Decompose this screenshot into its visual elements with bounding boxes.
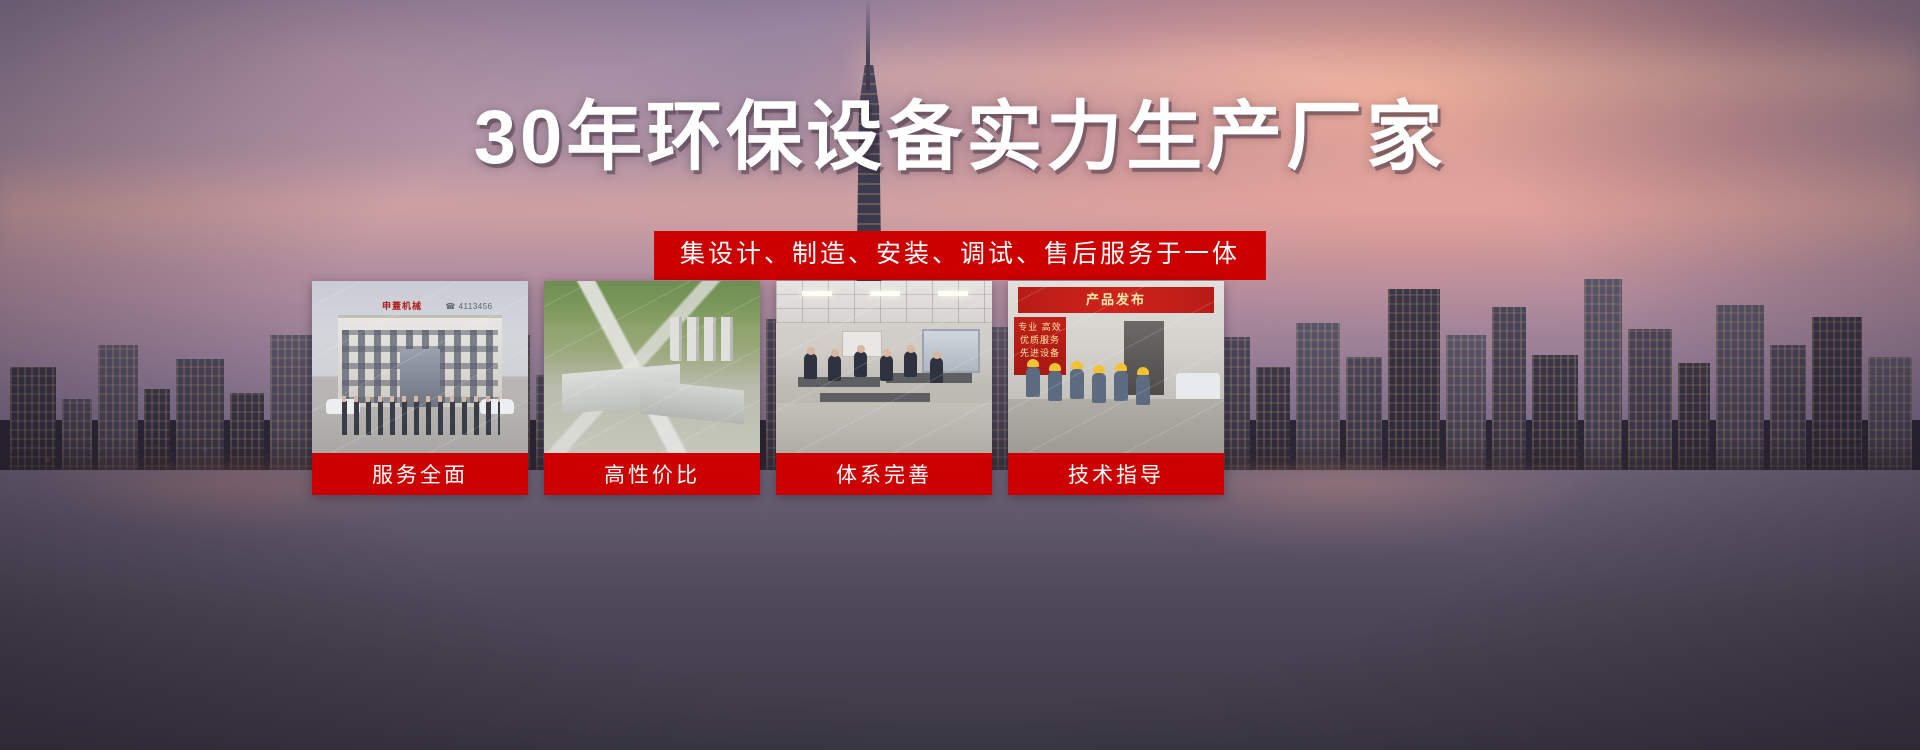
feature-card[interactable]: 高性价比 [544,281,760,495]
workshop-floor [1008,399,1224,453]
card-label: 高性价比 [544,453,760,495]
building-sign-phone: ☎ 4113456 [440,301,498,312]
feature-card[interactable]: 申蓋机械 ☎ 4113456 服务全面 [312,281,528,495]
seated-person [804,353,817,379]
hard-hat-icon [1137,367,1149,375]
seated-person [904,351,917,377]
building-sign-text: 申蓋机械 [364,301,440,312]
staff-lineup [342,401,500,435]
card-label: 技术指导 [1008,453,1224,495]
card-photo: 产品发布 专业 高效 优质服务 先进设备 [1008,281,1224,453]
worker [1048,371,1062,401]
worker [1114,371,1128,401]
card-photo [776,281,992,453]
hero-banner: 30年环保设备实力生产厂家 集设计、制造、安装、调试、售后服务于一体 申蓋机械 … [0,0,1920,750]
banner-headline: 30年环保设备实力生产厂家 [0,96,1920,180]
feature-card-list: 申蓋机械 ☎ 4113456 服务全面 [312,281,1224,495]
ceiling-light [802,291,832,296]
storage-silos [670,317,736,361]
seated-person [880,355,893,381]
banner-subtitle: 集设计、制造、安装、调试、售后服务于一体 [654,231,1266,280]
worker [1136,375,1150,405]
office-ceiling [776,281,992,323]
delivery-truck [1176,373,1220,401]
ceiling-light [938,291,968,296]
seated-person [930,357,943,383]
banner-subtitle-wrapper: 集设计、制造、安装、调试、售后服务于一体 [0,231,1920,280]
hard-hat-icon [1115,363,1127,371]
banner-content: 30年环保设备实力生产厂家 集设计、制造、安装、调试、售后服务于一体 申蓋机械 … [0,0,1920,750]
hard-hat-icon [1093,365,1105,373]
worker [1092,373,1106,403]
hard-hat-icon [1071,361,1083,369]
card-label: 体系完善 [776,453,992,495]
feature-card[interactable]: 产品发布 专业 高效 优质服务 先进设备 技术指导 [1008,281,1224,495]
card-label: 服务全面 [312,453,528,495]
hard-hat-icon [1049,363,1061,371]
seated-person [854,351,867,377]
feature-card[interactable]: 体系完善 [776,281,992,495]
card-photo: 申蓋机械 ☎ 4113456 [312,281,528,453]
worker [1070,369,1084,399]
office-desk [886,373,972,383]
ceiling-light [870,291,900,296]
office-desk [820,393,930,402]
hard-hat-icon [1027,359,1039,367]
workshop-banner-text: 产品发布 [1018,287,1214,313]
seated-person [828,355,841,381]
worker [1026,367,1040,397]
card-photo [544,281,760,453]
office-floor [776,403,992,453]
